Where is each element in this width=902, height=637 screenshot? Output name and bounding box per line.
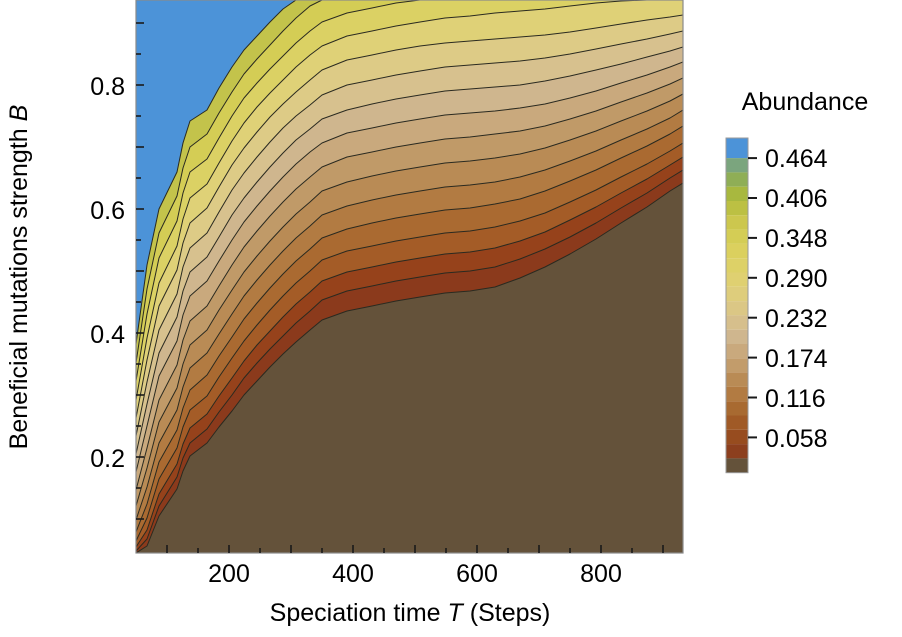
- x-tick-label-200: 200: [208, 560, 250, 588]
- colorbar-swatch-11: [726, 301, 748, 315]
- x-tick-label-600: 600: [456, 560, 498, 588]
- legend-title: Abundance: [742, 88, 869, 116]
- colorbar-label-6: 0.116: [765, 385, 826, 413]
- x-axis-label-prefix: Speciation time: [270, 599, 448, 627]
- colorbar-label-1: 0.406: [765, 185, 828, 213]
- y-tick-label-0.2: 0.2: [90, 445, 125, 473]
- colorbar-swatch-4: [726, 201, 748, 215]
- contour-plot-figure: 200 400 600 800 Speciation time T (Steps…: [0, 0, 902, 637]
- colorbar-swatch-12: [726, 315, 748, 329]
- colorbar-swatch-10: [726, 287, 748, 301]
- colorbar-label-7: 0.058: [765, 425, 828, 453]
- y-tick-label-0.8: 0.8: [90, 73, 125, 101]
- x-axis-label-suffix: (Steps): [463, 599, 551, 627]
- x-axis-label: Speciation time T (Steps): [270, 599, 551, 627]
- colorbar-label-2: 0.348: [765, 225, 828, 253]
- y-axis-label: Beneficial mutations strength B: [5, 105, 33, 450]
- colorbar-swatch-20: [726, 430, 748, 444]
- plot-area: [136, 0, 683, 553]
- colorbar-label-5: 0.174: [765, 345, 828, 373]
- colorbar-swatch-17: [726, 387, 748, 401]
- colorbar-swatch-13: [726, 330, 748, 344]
- y-axis-label-prefix: Beneficial mutations strength: [5, 121, 33, 449]
- colorbar-swatch-2: [726, 172, 748, 186]
- contour-bands: [136, 0, 683, 553]
- colorbar-swatch-6: [726, 230, 748, 244]
- colorbar-label-4: 0.232: [765, 305, 828, 333]
- colorbar-swatch-8: [726, 258, 748, 272]
- colorbar-swatch-14: [726, 344, 748, 358]
- y-axis-label-variable: B: [5, 105, 33, 122]
- colorbar-swatch-1: [726, 158, 748, 172]
- colorbar-swatch-19: [726, 416, 748, 430]
- y-tick-label-0.6: 0.6: [90, 197, 125, 225]
- colorbar-swatch-5: [726, 215, 748, 229]
- colorbar-swatch-3: [726, 187, 748, 201]
- colorbar-swatch-0: [726, 138, 748, 158]
- colorbar-swatch-9: [726, 273, 748, 287]
- x-tick-label-400: 400: [332, 560, 374, 588]
- colorbar-swatch-21: [726, 444, 748, 458]
- y-tick-label-0.4: 0.4: [90, 321, 125, 349]
- colorbar-label-0: 0.464: [765, 145, 828, 173]
- colorbar-label-3: 0.290: [765, 265, 828, 293]
- colorbar-swatch-7: [726, 244, 748, 258]
- colorbar-swatch-18: [726, 401, 748, 415]
- x-tick-label-800: 800: [580, 560, 622, 588]
- colorbar-swatch-15: [726, 358, 748, 372]
- colorbar-swatch-16: [726, 373, 748, 387]
- colorbar-swatch-22: [726, 458, 748, 472]
